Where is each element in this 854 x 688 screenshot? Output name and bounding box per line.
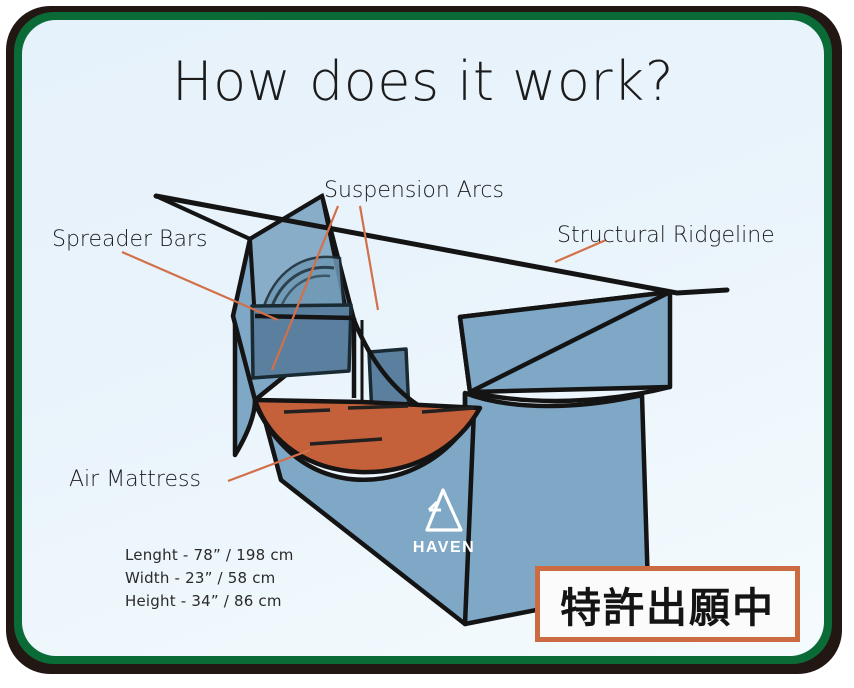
page-title: How does it work? bbox=[22, 50, 824, 113]
callout-label-suspension-arcs: Suspension Arcs bbox=[324, 178, 504, 203]
leader-suspension-b bbox=[360, 206, 378, 310]
patent-pending-badge: 特許出願中 bbox=[535, 566, 800, 642]
dimension-length: Lenght - 78” / 198 cm bbox=[125, 544, 294, 567]
dimensions-block: Lenght - 78” / 198 cm Width - 23” / 58 c… bbox=[125, 544, 294, 613]
callout-label-spreader-bars: Spreader Bars bbox=[52, 227, 207, 252]
haven-wordmark: HAVEN bbox=[413, 539, 475, 556]
callout-label-structural-ridgeline: Structural Ridgeline bbox=[557, 223, 775, 248]
callout-label-air-mattress: Air Mattress bbox=[69, 467, 201, 492]
screenshot-root: HAVEN How does it work? Spreader Bars Su… bbox=[0, 0, 854, 688]
infographic-canvas: HAVEN How does it work? Spreader Bars Su… bbox=[22, 20, 824, 656]
tarp-right-wing bbox=[460, 292, 670, 401]
dimension-width: Width - 23” / 58 cm bbox=[125, 567, 294, 590]
dimension-height: Height - 34” / 86 cm bbox=[125, 590, 294, 613]
patent-pending-text: 特許出願中 bbox=[560, 574, 775, 634]
